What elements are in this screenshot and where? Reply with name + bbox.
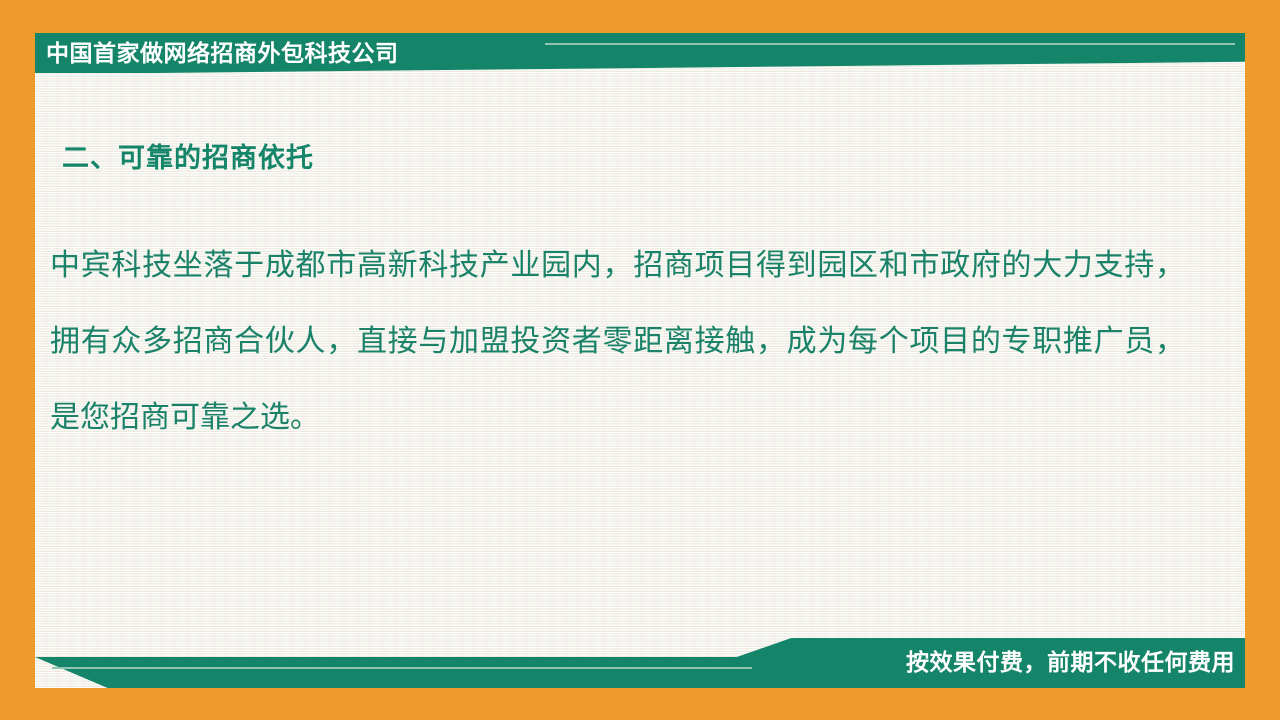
header-title: 中国首家做网络招商外包科技公司: [46, 35, 399, 71]
footer-tagline: 按效果付费，前期不收任何费用: [906, 645, 1235, 679]
page-title: 二、可靠的招商依托: [62, 136, 314, 175]
header-hairline-divider: [545, 43, 1235, 45]
slide-root: 中国首家做网络招商外包科技公司 二、可靠的招商依托 中宾科技坐落于成都市高新科技…: [0, 0, 1280, 720]
body-paragraph: 中宾科技坐落于成都市高新科技产业园内，招商项目得到园区和市政府的大力支持，拥有众…: [50, 228, 1185, 456]
footer-hairline-divider: [52, 667, 752, 669]
